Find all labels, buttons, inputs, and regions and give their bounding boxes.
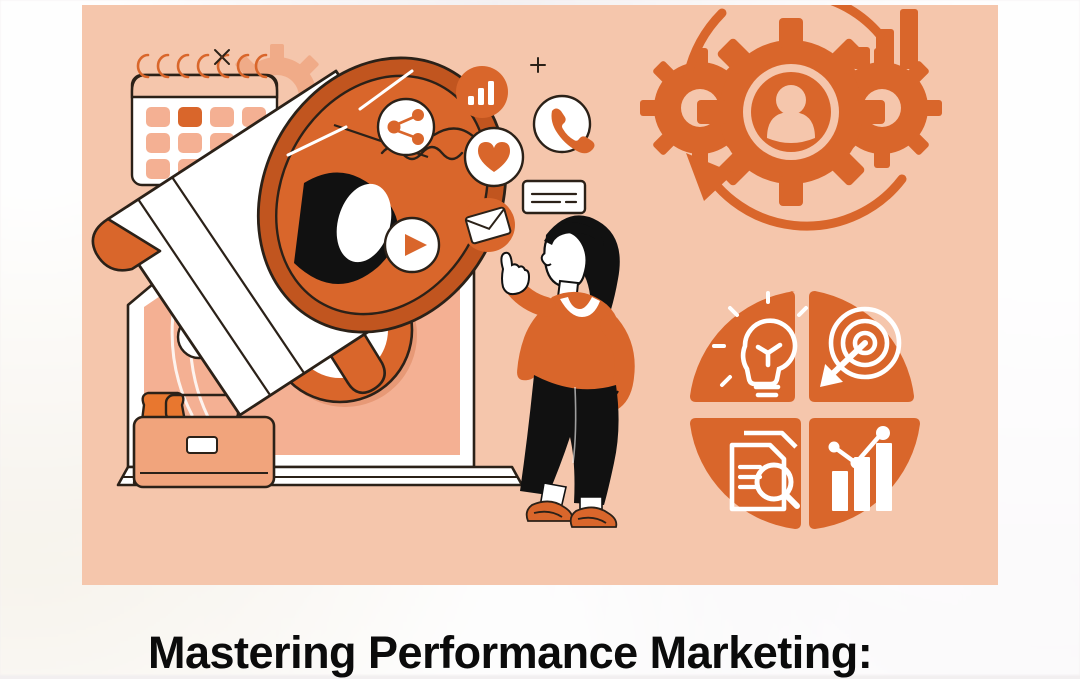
- heart-icon: [465, 128, 523, 186]
- phone-icon: [534, 96, 595, 153]
- share-icon: [378, 99, 434, 155]
- message-card-icon: [523, 181, 585, 213]
- four-quadrant-wheel: [690, 291, 920, 529]
- wheel-segment-lightbulb: [690, 291, 806, 402]
- envelope-icon: [461, 198, 515, 252]
- hero-illustration-panel: S: [82, 5, 998, 585]
- gears-with-person-icon: [640, 18, 942, 206]
- wheel-segment-research: [690, 418, 801, 529]
- wheel-segment-analytics: [809, 418, 920, 529]
- pointing-hand-icon: [501, 253, 529, 294]
- page-title: Mastering Performance Marketing:: [148, 627, 872, 679]
- play-icon: [385, 218, 439, 272]
- stats-bubble-icon: [456, 66, 508, 118]
- wheel-segment-target: [809, 291, 914, 402]
- marketing-illustration: S: [82, 5, 998, 585]
